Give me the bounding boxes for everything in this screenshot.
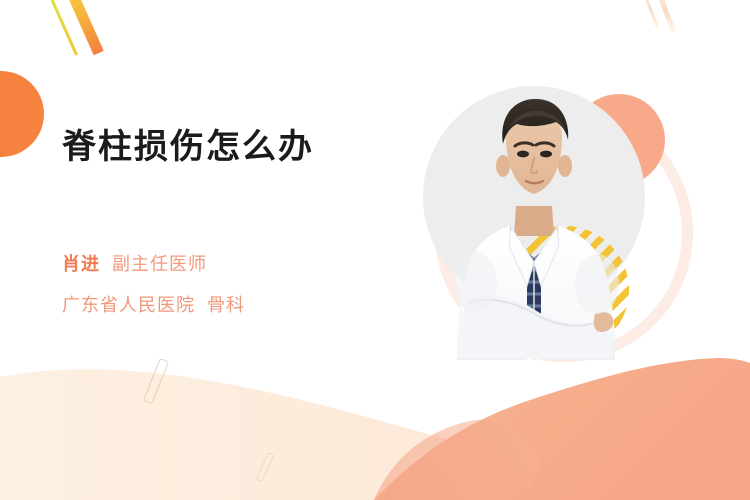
doctor-name: 肖进	[62, 254, 100, 274]
doctor-video-cover-card: 脊柱损伤怎么办 肖进副主任医师 广东省人民医院骨科	[0, 0, 750, 500]
doctor-rank: 副主任医师	[112, 254, 207, 274]
pale-diagonal-line-icon-a	[640, 0, 659, 29]
orange-circle-decoration	[0, 71, 44, 157]
doctor-hospital-line: 广东省人民医院骨科	[62, 291, 245, 317]
page-title: 脊柱损伤怎么办	[62, 119, 314, 168]
doctor-name-line: 肖进副主任医师	[62, 250, 207, 276]
wave-coral-lobe	[374, 419, 539, 500]
doctor-portrait-group	[423, 86, 645, 368]
doctor-hospital: 广东省人民医院	[62, 295, 195, 315]
outlined-diagonal-bar-icon	[143, 358, 170, 404]
orange-gradient-stripe-icon	[62, 0, 104, 55]
doctor-department: 骨科	[207, 295, 245, 315]
outlined-diagonal-bar-icon-small	[256, 452, 275, 482]
doctor-photo	[423, 86, 645, 368]
wave-light-band	[0, 369, 750, 500]
wave-coral-band	[374, 358, 750, 500]
